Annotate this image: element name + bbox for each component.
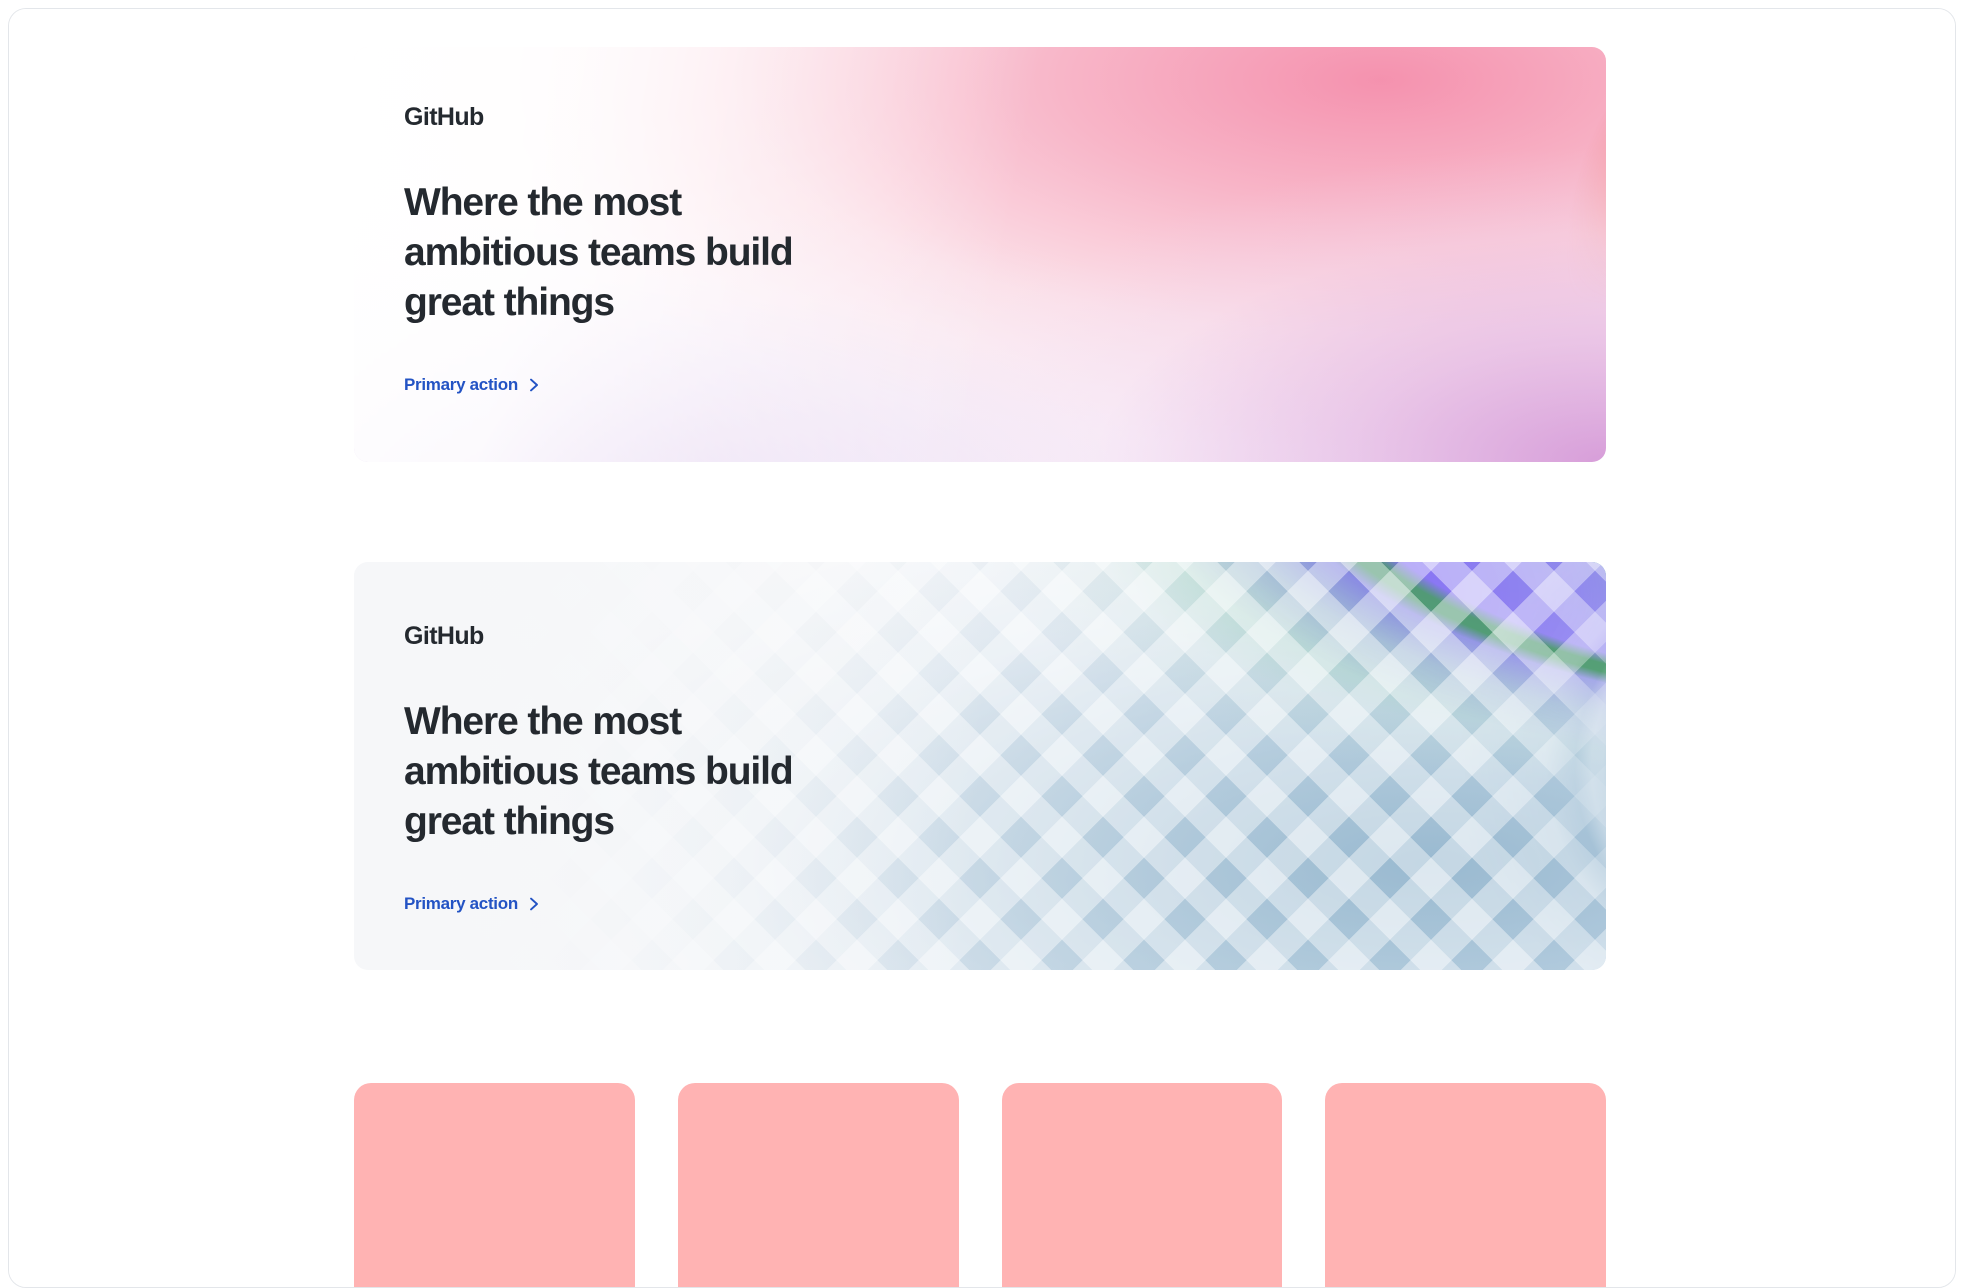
primary-action-link[interactable]: Primary action [404, 375, 540, 395]
placeholder-tile[interactable] [1002, 1083, 1283, 1288]
hero-card-pink[interactable]: GitHub Where the most ambitious teams bu… [354, 47, 1606, 462]
github-wordmark: GitHub [404, 624, 1104, 649]
hero-heading: Where the most ambitious teams build gre… [404, 697, 1104, 847]
hero-card-violet[interactable]: GitHub Where the most ambitious teams bu… [354, 562, 1606, 970]
hero-content-violet: GitHub Where the most ambitious teams bu… [404, 562, 1104, 970]
hero-content-pink: GitHub Where the most ambitious teams bu… [404, 47, 1104, 462]
placeholder-tile[interactable] [1325, 1083, 1606, 1288]
app-frame: GitHub Where the most ambitious teams bu… [8, 8, 1956, 1288]
primary-action-label: Primary action [404, 894, 518, 914]
primary-action-label: Primary action [404, 375, 518, 395]
primary-action-link[interactable]: Primary action [404, 894, 540, 914]
github-wordmark: GitHub [404, 105, 1104, 130]
chevron-right-icon [529, 378, 540, 392]
placeholder-tile[interactable] [678, 1083, 959, 1288]
placeholder-tile-row [354, 1083, 1606, 1288]
placeholder-tile[interactable] [354, 1083, 635, 1288]
chevron-right-icon [529, 897, 540, 911]
page-canvas: GitHub Where the most ambitious teams bu… [9, 9, 1955, 1287]
hero-heading: Where the most ambitious teams build gre… [404, 178, 1104, 328]
